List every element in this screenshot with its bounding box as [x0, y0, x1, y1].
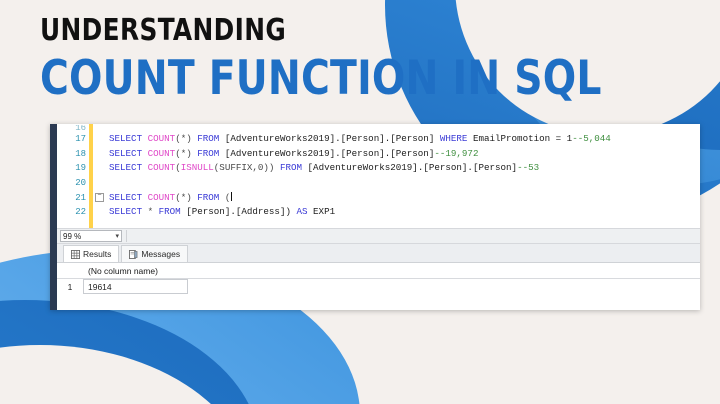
text-caret: [231, 192, 232, 201]
code-token: COUNT: [148, 148, 176, 159]
results-grid-header-row: (No column name): [57, 263, 700, 279]
fold-spacer: [94, 125, 105, 132]
code-token: *: [148, 206, 159, 217]
ssms-screenshot-panel: 16171819202122 − SELECT COUNT(*) FROM [A…: [50, 124, 700, 310]
line-number-gutter: 16171819202122: [57, 124, 89, 228]
slide-canvas: UNDERSTANDING COUNT FUNCTION IN SQL 1617…: [0, 0, 720, 404]
code-token: SELECT: [109, 148, 148, 159]
line-number: 19: [57, 161, 86, 176]
editor-zoom-value: 99 %: [63, 232, 81, 241]
code-token: FROM: [159, 206, 187, 217]
code-token: SELECT: [109, 192, 148, 203]
editor-zoom-bar: 99 % ▾: [57, 228, 700, 244]
row-number[interactable]: 1: [57, 279, 84, 294]
chevron-down-icon[interactable]: ▾: [115, 232, 119, 240]
code-line[interactable]: SELECT COUNT(*) FROM (: [105, 191, 700, 206]
code-token: ISNULL: [181, 162, 214, 173]
code-token: (*): [175, 133, 197, 144]
results-grid[interactable]: (No column name) 1 19614: [57, 263, 700, 310]
code-token: SELECT: [109, 133, 148, 144]
code-token: --5,044: [572, 133, 611, 144]
code-token: FROM: [197, 148, 225, 159]
code-token: [Person].[Address]): [186, 206, 296, 217]
code-token: (*): [175, 148, 197, 159]
code-token: [AdventureWorks2019].[Person].[Person]: [225, 133, 440, 144]
code-token: AS: [297, 206, 314, 217]
line-number: 17: [57, 132, 86, 147]
code-token: (: [225, 192, 231, 203]
slide-kicker: UNDERSTANDING: [40, 16, 596, 46]
fold-spacer: [94, 147, 105, 162]
fold-spacer: [94, 161, 105, 176]
code-token: EmailPromotion = 1: [473, 133, 572, 144]
code-fold-column[interactable]: −: [94, 124, 105, 228]
results-tab-strip: Results Messages: [57, 244, 700, 263]
code-token: --19,972: [434, 148, 478, 159]
fold-spacer: [94, 176, 105, 191]
result-cell[interactable]: 19614: [83, 279, 188, 294]
tab-results-label: Results: [83, 249, 111, 259]
code-line[interactable]: SELECT * FROM [Person].[Address]) AS EXP…: [105, 205, 700, 220]
code-line[interactable]: SELECT COUNT(*) FROM [AdventureWorks2019…: [105, 147, 700, 162]
line-number: 21: [57, 191, 86, 206]
sql-code-text[interactable]: SELECT COUNT(*) FROM [AdventureWorks2019…: [105, 124, 700, 228]
code-token: FROM: [280, 162, 308, 173]
results-grid-empty-area: [57, 294, 700, 310]
code-token: WHERE: [440, 133, 473, 144]
line-number: 22: [57, 205, 86, 220]
code-line[interactable]: [105, 125, 700, 132]
code-token: COUNT: [148, 133, 176, 144]
slide-heading-group: UNDERSTANDING COUNT FUNCTION IN SQL: [40, 16, 644, 103]
slide-title: COUNT FUNCTION IN SQL: [40, 54, 602, 103]
editor-status-area: [126, 230, 700, 242]
code-token: (*): [175, 192, 197, 203]
code-line[interactable]: [105, 176, 700, 191]
code-token: EXP1: [313, 206, 335, 217]
sql-query-editor[interactable]: 16171819202122 − SELECT COUNT(*) FROM [A…: [57, 124, 700, 228]
code-token: SELECT: [109, 206, 148, 217]
document-icon: [129, 250, 138, 259]
unsaved-change-bar: [89, 124, 93, 228]
code-token: SELECT: [109, 162, 148, 173]
ssms-body: 16171819202122 − SELECT COUNT(*) FROM [A…: [57, 124, 700, 310]
code-token: COUNT: [148, 162, 176, 173]
grid-icon: [71, 250, 80, 259]
code-token: [AdventureWorks2019].[Person].[Person]: [225, 148, 435, 159]
column-header[interactable]: (No column name): [83, 263, 188, 278]
code-token: COUNT: [148, 192, 176, 203]
tab-messages-label: Messages: [141, 249, 180, 259]
code-token: [AdventureWorks2019].[Person].[Person]: [308, 162, 518, 173]
code-token: FROM: [197, 192, 225, 203]
code-token: FROM: [197, 133, 225, 144]
fold-toggle-icon[interactable]: −: [94, 191, 105, 206]
code-line[interactable]: SELECT COUNT(*) FROM [AdventureWorks2019…: [105, 132, 700, 147]
tab-results[interactable]: Results: [63, 245, 119, 262]
code-token: --53: [517, 162, 539, 173]
code-token: (SUFFIX,0)): [214, 162, 280, 173]
panel-left-edge: [50, 124, 57, 310]
fold-spacer: [94, 205, 105, 220]
line-number: 16: [57, 125, 86, 132]
results-grid-row[interactable]: 1 19614: [57, 279, 700, 294]
fold-spacer: [94, 132, 105, 147]
editor-zoom-select[interactable]: 99 % ▾: [60, 230, 122, 242]
line-number: 18: [57, 147, 86, 162]
row-header-corner: [57, 263, 84, 278]
line-number: 20: [57, 176, 86, 191]
code-line[interactable]: SELECT COUNT(ISNULL(SUFFIX,0)) FROM [Adv…: [105, 161, 700, 176]
tab-messages[interactable]: Messages: [121, 245, 188, 262]
